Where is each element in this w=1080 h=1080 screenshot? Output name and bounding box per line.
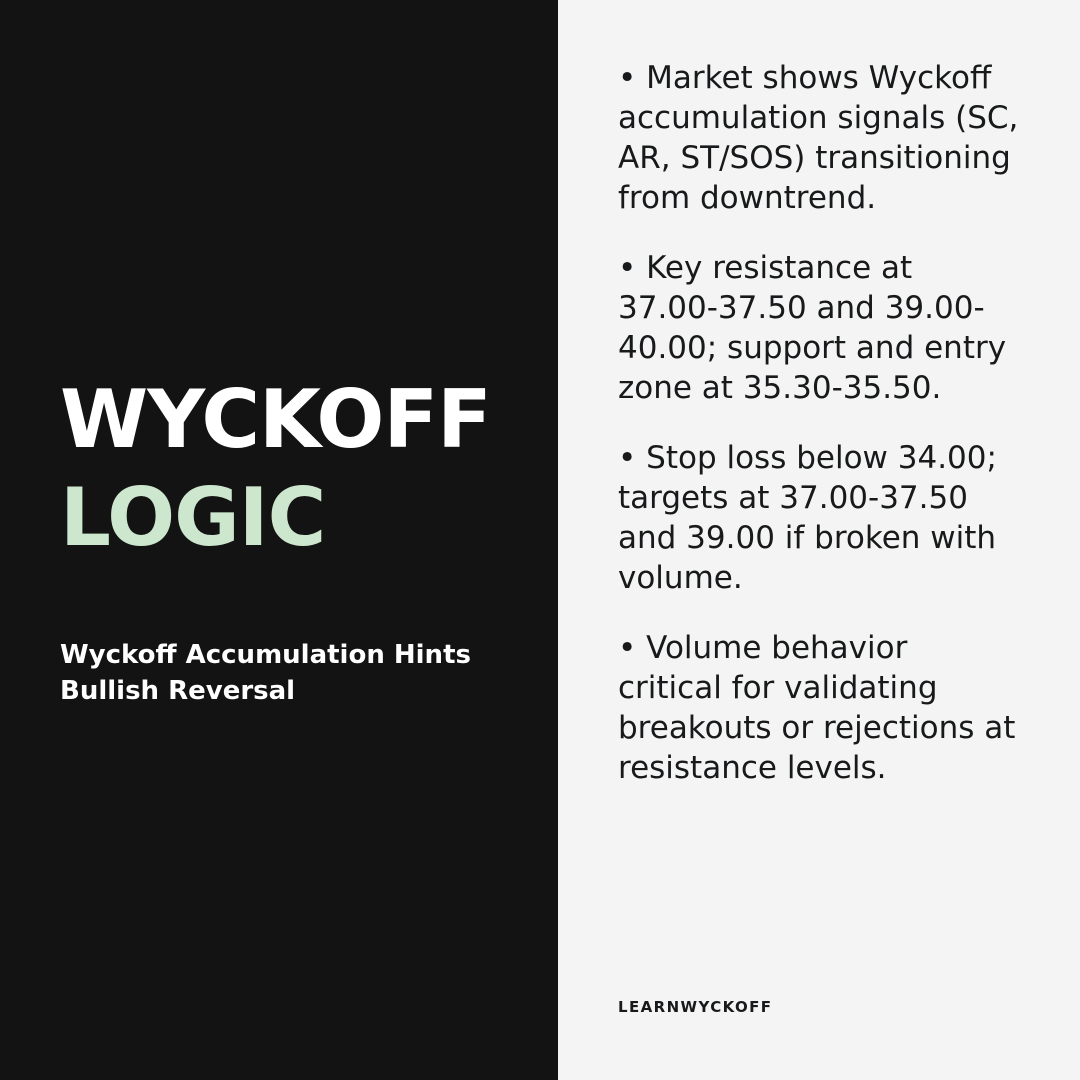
bullet-list: • Market shows Wyckoff accumulation sign… xyxy=(618,58,1020,788)
content-panel: • Market shows Wyckoff accumulation sign… xyxy=(558,0,1080,1080)
poster-canvas: WYCKOFF LOGIC Wyckoff Accumulation Hints… xyxy=(0,0,1080,1080)
brand-watermark: LEARNWYCKOFF xyxy=(618,998,772,1016)
list-item: • Volume behavior critical for validatin… xyxy=(618,628,1020,788)
list-item: • Key resistance at 37.00-37.50 and 39.0… xyxy=(618,248,1020,408)
title-block: WYCKOFF LOGIC xyxy=(60,371,518,567)
list-item: • Market shows Wyckoff accumulation sign… xyxy=(618,58,1020,218)
subtitle: Wyckoff Accumulation Hints Bullish Rever… xyxy=(60,637,480,709)
headline-line-accent: LOGIC xyxy=(60,469,518,567)
title-panel: WYCKOFF LOGIC Wyckoff Accumulation Hints… xyxy=(0,0,558,1080)
page-title: WYCKOFF LOGIC xyxy=(60,371,518,567)
headline-line-primary: WYCKOFF xyxy=(60,371,518,469)
list-item: • Stop loss below 34.00; targets at 37.0… xyxy=(618,438,1020,598)
